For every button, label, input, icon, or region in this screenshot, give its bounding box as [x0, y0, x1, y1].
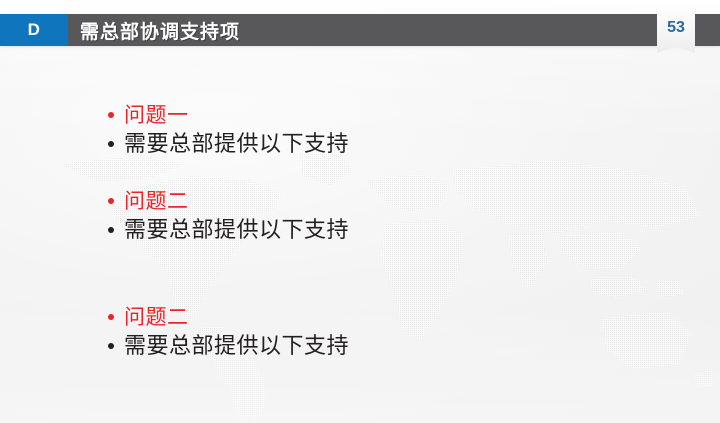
issue-detail-row-3: 需要总部提供以下支持: [108, 332, 668, 362]
bullet-dot-icon: [108, 141, 114, 147]
group-spacer: [108, 246, 668, 303]
issue-group-1: 问题一 需要总部提供以下支持: [108, 101, 668, 160]
bullet-dot-icon: [108, 314, 114, 320]
issue-heading-row-1: 问题一: [108, 101, 668, 130]
bullet-dot-icon: [108, 112, 114, 118]
page-number-label: 53: [667, 19, 685, 37]
issue-detail-row-1: 需要总部提供以下支持: [108, 130, 668, 160]
section-letter-label: D: [0, 14, 68, 46]
slide-body: 问题一 需要总部提供以下支持 问题二 需要总部提供以下支持 问题二: [108, 101, 668, 362]
page-title: 需总部协调支持项: [80, 14, 240, 46]
issue-heading-1: 问题一: [124, 101, 189, 130]
bullet-dot-icon: [108, 198, 114, 204]
section-letter-badge: D: [0, 14, 68, 46]
issue-detail-2: 需要总部提供以下支持: [124, 216, 349, 246]
group-spacer: [108, 160, 668, 187]
issue-group-3: 问题二 需要总部提供以下支持: [108, 303, 668, 362]
issue-heading-row-2: 问题二: [108, 187, 668, 216]
issue-detail-1: 需要总部提供以下支持: [124, 130, 349, 160]
page-number-badge: 53: [657, 9, 695, 53]
issue-heading-row-3: 问题二: [108, 303, 668, 332]
issue-heading-3: 问题二: [124, 303, 189, 332]
issue-detail-row-2: 需要总部提供以下支持: [108, 216, 668, 246]
issue-heading-2: 问题二: [124, 187, 189, 216]
issue-detail-3: 需要总部提供以下支持: [124, 332, 349, 362]
issue-group-2: 问题二 需要总部提供以下支持: [108, 187, 668, 246]
bullet-dot-icon: [108, 227, 114, 233]
slide-header-bar: D 需总部协调支持项: [0, 14, 720, 46]
bullet-dot-icon: [108, 343, 114, 349]
slide-canvas: D 需总部协调支持项 53 问题一 需要总部提供以下支持 问题二: [0, 0, 720, 423]
